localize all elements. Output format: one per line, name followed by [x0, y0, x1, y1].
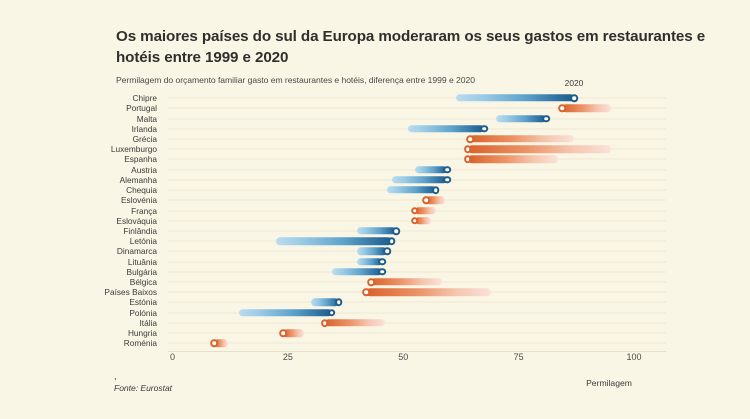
- chart-subtitle: Permilagem do orçamento familiar gasto e…: [116, 74, 716, 86]
- value-2020-marker[interactable]: [559, 105, 567, 113]
- chart-row: Portugal: [0, 103, 750, 113]
- chart-row: Luxemburgo: [0, 144, 750, 154]
- chart-row: Bulgária: [0, 267, 750, 277]
- chart-row: Roménia: [0, 338, 750, 348]
- row-gridline: [168, 271, 666, 272]
- chart-row: Irlanda: [0, 124, 750, 134]
- x-axis-tick-75: 75: [514, 352, 524, 362]
- country-label-malta: Malta: [0, 114, 157, 124]
- chart-row: Dinamarca: [0, 246, 750, 256]
- chart-title: Os maiores países do sul da Europa moder…: [116, 26, 716, 68]
- value-2020-marker[interactable]: [363, 288, 371, 296]
- value-2020-marker[interactable]: [443, 176, 451, 184]
- x-axis: 0255075100: [0, 352, 750, 370]
- x-axis-tick-100: 100: [626, 352, 641, 362]
- value-2020-marker[interactable]: [379, 258, 387, 266]
- range-bar[interactable]: [276, 237, 391, 244]
- row-gridline: [168, 241, 666, 242]
- value-2020-marker[interactable]: [393, 227, 401, 235]
- range-bar[interactable]: [392, 176, 447, 183]
- country-label-litu-nia: Lituânia: [0, 257, 157, 267]
- value-2020-marker[interactable]: [367, 278, 375, 286]
- value-2020-marker[interactable]: [379, 268, 387, 276]
- country-label-finl-ndia: Finlândia: [0, 226, 157, 236]
- chart-row: Letónia: [0, 236, 750, 246]
- range-bar[interactable]: [387, 186, 435, 193]
- x-axis-tick-25: 25: [283, 352, 293, 362]
- range-bar[interactable]: [357, 227, 396, 234]
- value-2020-marker[interactable]: [328, 309, 336, 317]
- range-bar[interactable]: [366, 289, 491, 296]
- source-note: Fonte: Eurostat: [114, 383, 172, 393]
- range-bar[interactable]: [468, 145, 611, 152]
- range-bar[interactable]: [470, 135, 574, 142]
- range-bar[interactable]: [468, 156, 558, 163]
- range-bar[interactable]: [371, 278, 443, 285]
- country-label-it-lia: Itália: [0, 318, 157, 328]
- range-bar[interactable]: [415, 166, 447, 173]
- value-2020-marker[interactable]: [543, 115, 551, 123]
- value-2020-marker[interactable]: [279, 329, 287, 337]
- value-2020-marker[interactable]: [464, 145, 472, 153]
- country-label-pol-nia: Polónia: [0, 308, 157, 318]
- country-label-est-nia: Estónia: [0, 297, 157, 307]
- row-gridline: [168, 138, 666, 139]
- chart-row: Estónia: [0, 297, 750, 307]
- range-bar[interactable]: [562, 105, 610, 112]
- chart-row: França: [0, 205, 750, 215]
- value-2020-marker[interactable]: [388, 237, 396, 245]
- country-label-fran-a: França: [0, 206, 157, 216]
- value-2020-marker[interactable]: [466, 135, 474, 143]
- value-2020-marker[interactable]: [411, 207, 419, 215]
- row-gridline: [168, 333, 666, 334]
- x-axis-title: Permilagem: [586, 378, 632, 388]
- country-label-b-lgica: Bélgica: [0, 277, 157, 287]
- annotation-2020: 2020: [565, 78, 584, 88]
- value-2020-marker[interactable]: [321, 319, 329, 327]
- row-gridline: [168, 251, 666, 252]
- value-2020-marker[interactable]: [335, 299, 343, 307]
- country-label-chipre: Chipre: [0, 93, 157, 103]
- plot-area: ChiprePortugalMaltaIrlandaGréciaLuxembur…: [0, 88, 750, 350]
- chart-row: Hungria: [0, 328, 750, 338]
- chart-row: Países Baixos: [0, 287, 750, 297]
- chart-row: Grécia: [0, 134, 750, 144]
- value-2020-marker[interactable]: [411, 217, 419, 225]
- chart-row: Polónia: [0, 308, 750, 318]
- value-2020-marker[interactable]: [443, 166, 451, 174]
- country-label-eslov-quia: Eslováquia: [0, 216, 157, 226]
- chart-header: Os maiores países do sul da Europa moder…: [116, 26, 716, 86]
- row-gridline: [168, 118, 666, 119]
- chart-row: Lituânia: [0, 257, 750, 267]
- x-axis-tick-0: 0: [170, 352, 175, 362]
- range-bar[interactable]: [496, 115, 547, 122]
- value-2020-marker[interactable]: [210, 340, 218, 348]
- value-2020-marker[interactable]: [432, 186, 440, 194]
- chart-row: Eslováquia: [0, 216, 750, 226]
- country-label-rom-nia: Roménia: [0, 338, 157, 348]
- range-bar[interactable]: [239, 309, 331, 316]
- value-2020-marker[interactable]: [570, 94, 578, 102]
- chart-footer: , Fonte: Eurostat: [114, 372, 172, 393]
- country-label-espanha: Espanha: [0, 154, 157, 164]
- country-label-irlanda: Irlanda: [0, 124, 157, 134]
- chart-row: Malta: [0, 113, 750, 123]
- chart-container: Os maiores países do sul da Europa moder…: [0, 0, 750, 419]
- chart-row: Bélgica: [0, 277, 750, 287]
- country-label-hungria: Hungria: [0, 328, 157, 338]
- country-label-let-nia: Letónia: [0, 236, 157, 246]
- row-gridline: [168, 159, 666, 160]
- x-axis-tick-50: 50: [398, 352, 408, 362]
- chart-row: Chipre: [0, 93, 750, 103]
- country-label-gr-cia: Grécia: [0, 134, 157, 144]
- chart-row: Itália: [0, 318, 750, 328]
- row-gridline: [168, 98, 666, 99]
- country-label-eslov-nia: Eslovénia: [0, 195, 157, 205]
- country-label-chequia: Chequia: [0, 185, 157, 195]
- chart-row: Austria: [0, 165, 750, 175]
- row-gridline: [168, 322, 666, 323]
- range-bar[interactable]: [456, 94, 574, 101]
- row-gridline: [168, 261, 666, 262]
- country-label-austria: Austria: [0, 165, 157, 175]
- range-bar[interactable]: [332, 268, 383, 275]
- country-label-dinamarca: Dinamarca: [0, 246, 157, 256]
- country-label-pa-ses-baixos: Países Baixos: [0, 287, 157, 297]
- chart-row: Alemanha: [0, 175, 750, 185]
- chart-row: Eslovénia: [0, 195, 750, 205]
- chart-row: Espanha: [0, 154, 750, 164]
- range-bar[interactable]: [325, 319, 385, 326]
- value-2020-marker[interactable]: [423, 196, 431, 204]
- chart-row: Finlândia: [0, 226, 750, 236]
- row-gridline: [168, 200, 666, 201]
- country-label-luxemburgo: Luxemburgo: [0, 144, 157, 154]
- range-bar[interactable]: [408, 125, 484, 132]
- country-label-portugal: Portugal: [0, 103, 157, 113]
- country-label-bulg-ria: Bulgária: [0, 267, 157, 277]
- row-gridline: [168, 343, 666, 344]
- row-gridline: [168, 302, 666, 303]
- value-2020-marker[interactable]: [464, 156, 472, 164]
- footer-comma: ,: [114, 372, 172, 380]
- value-2020-marker[interactable]: [480, 125, 488, 133]
- row-gridline: [168, 230, 666, 231]
- value-2020-marker[interactable]: [383, 248, 391, 256]
- chart-row: Chequia: [0, 185, 750, 195]
- country-label-alemanha: Alemanha: [0, 175, 157, 185]
